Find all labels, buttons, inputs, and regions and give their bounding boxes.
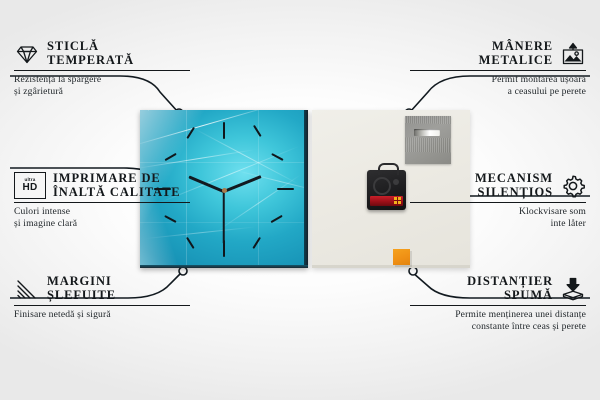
mechanism-pin — [393, 179, 399, 185]
feature-rule — [410, 70, 586, 71]
feature-title: STICLĂTEMPERATĂ — [47, 40, 134, 67]
feature-distantier-spuma: DISTANȚIERSPUMĂ Permite menținerea unei … — [410, 275, 586, 332]
feature-rule — [14, 202, 190, 203]
mechanism-dial — [373, 177, 391, 195]
ultra-hd-icon-main-text: HD — [22, 183, 37, 193]
polished-edges-icon — [14, 276, 40, 302]
ultra-hd-icon: ultra HD — [14, 172, 46, 199]
hanger-slot — [414, 129, 440, 136]
feature-sticla-temperata: STICLĂTEMPERATĂ Rezistență la spargereși… — [14, 40, 190, 97]
clock-hub — [222, 188, 227, 193]
feature-description: Permite menținerea unei distanțeconstant… — [410, 309, 586, 332]
feature-description: Culori intenseși imagine clară — [14, 206, 190, 229]
feature-header: STICLĂTEMPERATĂ — [14, 40, 190, 67]
battery — [370, 196, 403, 206]
picture-hanger-icon — [560, 41, 586, 67]
feature-title: MÂNEREMETALICE — [479, 40, 553, 67]
foam-spacer-icon — [560, 276, 586, 302]
feature-rule — [14, 70, 190, 71]
feature-rule — [410, 202, 586, 203]
feature-mecanism-silentios: MECANISMSILENȚIOS Klockvisare sominte lå… — [410, 172, 586, 229]
quartz-mechanism — [367, 170, 406, 210]
feature-rule — [410, 305, 586, 306]
feature-header: DISTANȚIERSPUMĂ — [410, 275, 586, 302]
feature-margini-slefuite: MARGINIȘLEFUITE Finisare netedă și sigur… — [14, 275, 190, 321]
foam-spacer-pad — [393, 249, 410, 265]
feature-rule — [14, 305, 190, 306]
panel-bottom-edge — [140, 265, 308, 268]
feature-header: MARGINIȘLEFUITE — [14, 275, 190, 302]
feature-title: DISTANȚIERSPUMĂ — [467, 275, 553, 302]
battery-plus-terminal — [394, 197, 401, 204]
feature-header: MECANISMSILENȚIOS — [410, 172, 586, 199]
feature-header: MÂNEREMETALICE — [410, 40, 586, 67]
feature-imprimare-inalta-calitate: ultra HD IMPRIMARE DEÎNALTĂ CALITATE Cul… — [14, 172, 190, 229]
metal-hanger-plate — [405, 116, 451, 164]
feature-description: Rezistență la spargereși zgârietură — [14, 74, 190, 97]
back-panel-bottom-edge — [312, 265, 470, 268]
feature-manere-metalice: MÂNEREMETALICE Permit montarea ușoarăa c… — [410, 40, 586, 97]
mechanism-hanging-loop — [378, 163, 399, 175]
hour-marker — [277, 188, 294, 190]
feature-title: IMPRIMARE DEÎNALTĂ CALITATE — [53, 172, 181, 199]
feature-title: MECANISMSILENȚIOS — [475, 172, 553, 199]
gear-icon — [560, 173, 586, 199]
second-hand — [223, 191, 225, 244]
diamond-icon — [14, 41, 40, 67]
hour-marker — [223, 122, 225, 139]
feature-title: MARGINIȘLEFUITE — [47, 275, 116, 302]
feature-description: Finisare netedă și sigură — [14, 309, 190, 320]
feature-header: ultra HD IMPRIMARE DEÎNALTĂ CALITATE — [14, 172, 190, 199]
infographic-canvas: STICLĂTEMPERATĂ Rezistență la spargereși… — [0, 0, 600, 400]
feature-description: Permit montarea ușoarăa ceasului pe pere… — [410, 74, 586, 97]
panel-right-edge — [304, 110, 308, 268]
feature-description: Klockvisare sominte låter — [410, 206, 586, 229]
